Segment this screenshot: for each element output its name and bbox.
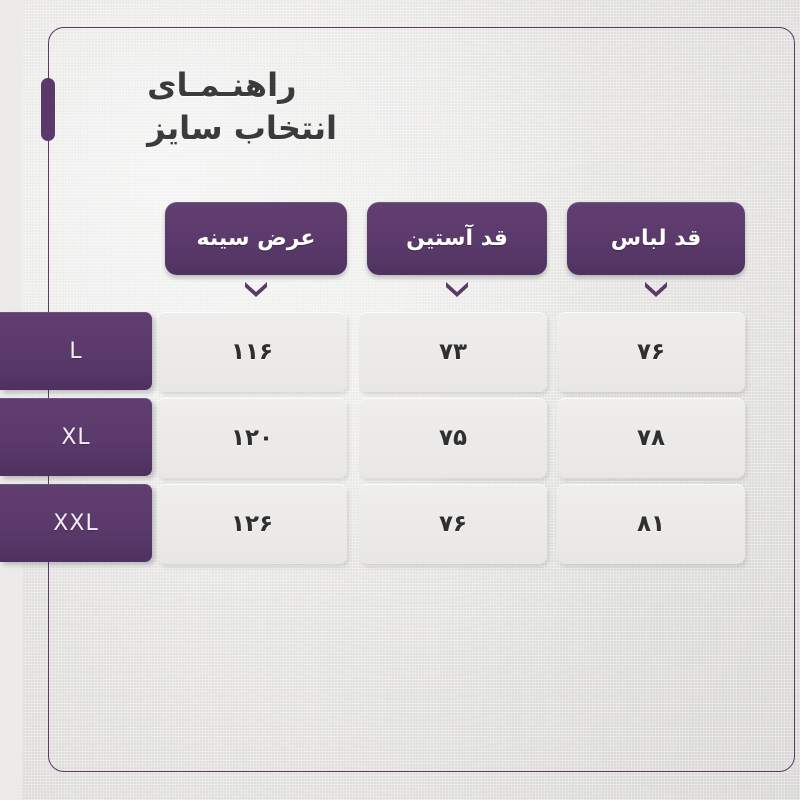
table-cell-value: ۱۲۶ bbox=[209, 511, 251, 537]
column-header-label: قد آستین bbox=[384, 226, 486, 251]
table-cell-sleeve-length-xxl: ۷۶ bbox=[337, 484, 525, 564]
size-label-text: XXL bbox=[31, 511, 76, 536]
table-cell-sleeve-length-l: ۷۳ bbox=[337, 312, 525, 392]
chevron-down-icon bbox=[421, 279, 449, 297]
size-guide-table: عرض سینه قد آستین قد لباس L ۱۱۶ ۷۳ ۷۶ XL… bbox=[0, 0, 800, 800]
column-header-garment-length: قد لباس bbox=[545, 202, 723, 275]
chevron-down-icon bbox=[620, 279, 648, 297]
table-cell-garment-length-xxl: ۸۱ bbox=[535, 484, 723, 564]
column-header-label: قد لباس bbox=[589, 226, 680, 251]
column-header-sleeve-length: قد آستین bbox=[345, 202, 525, 275]
table-cell-chest-width-xxl: ۱۲۶ bbox=[135, 484, 325, 564]
size-label-text: XL bbox=[39, 425, 68, 450]
chevron-down-icon bbox=[220, 279, 248, 297]
table-cell-value: ۷۳ bbox=[417, 339, 445, 365]
table-cell-garment-length-l: ۷۶ bbox=[535, 312, 723, 392]
table-cell-value: ۷۵ bbox=[417, 425, 445, 451]
table-cell-value: ۱۲۰ bbox=[209, 425, 251, 451]
table-cell-garment-length-xl: ۷۸ bbox=[535, 398, 723, 478]
table-cell-chest-width-l: ۱۱۶ bbox=[135, 312, 325, 392]
size-label-text: L bbox=[47, 339, 60, 364]
table-cell-value: ۷۶ bbox=[417, 511, 445, 537]
table-cell-chest-width-xl: ۱۲۰ bbox=[135, 398, 325, 478]
column-header-chest-width: عرض سینه bbox=[143, 202, 325, 275]
table-cell-value: ۱۱۶ bbox=[209, 339, 251, 365]
size-label-xxl: XXL bbox=[0, 484, 130, 562]
table-cell-value: ۷۸ bbox=[615, 425, 643, 451]
size-label-xl: XL bbox=[0, 398, 130, 476]
table-cell-value: ۸۱ bbox=[615, 511, 643, 537]
size-label-l: L bbox=[0, 312, 130, 390]
table-cell-sleeve-length-xl: ۷۵ bbox=[337, 398, 525, 478]
column-header-label: عرض سینه bbox=[175, 226, 294, 251]
table-cell-value: ۷۶ bbox=[615, 339, 643, 365]
